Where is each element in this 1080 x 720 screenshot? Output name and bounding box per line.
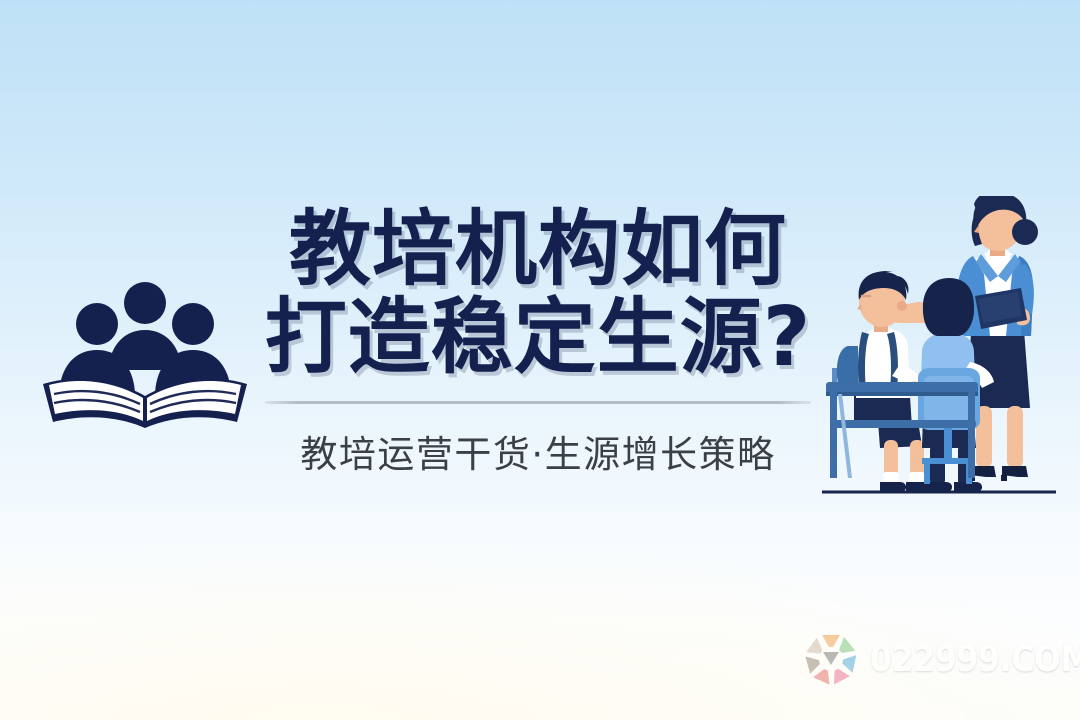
title-line-2: 打造稳定生源? bbox=[262, 296, 814, 380]
open-book-with-people-icon bbox=[40, 278, 250, 428]
subtitle: 教培运营干货·生源增长策略 bbox=[262, 424, 814, 478]
teacher-and-students-illustration bbox=[818, 196, 1080, 508]
watermark: 022999.COM bbox=[800, 620, 1050, 698]
watermark-text: 022999.COM bbox=[870, 639, 1080, 680]
title-line-1: 教培机构如何 bbox=[262, 208, 814, 292]
pinwheel-petals-logo bbox=[800, 628, 862, 690]
title-block: 教培机构如何 打造稳定生源? 教培运营干货·生源增长策略 bbox=[262, 208, 814, 478]
poster-canvas: 教培机构如何 打造稳定生源? 教培运营干货·生源增长策略 bbox=[0, 0, 1080, 720]
title-divider bbox=[265, 401, 811, 404]
